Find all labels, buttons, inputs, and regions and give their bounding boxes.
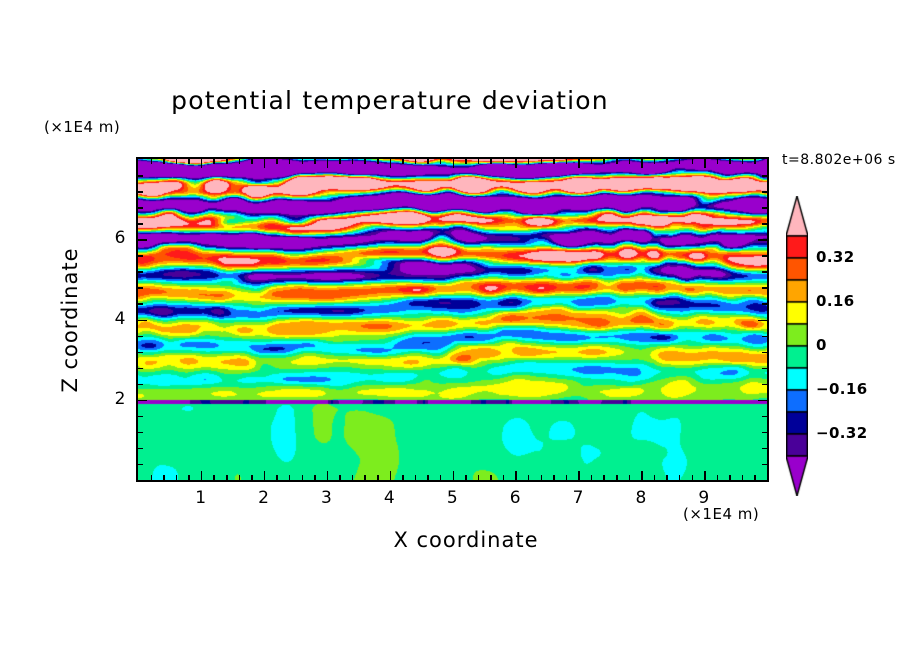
tick-mark (762, 255, 767, 257)
tick-mark (762, 287, 767, 289)
tick-mark (239, 475, 241, 480)
tick-mark (704, 471, 706, 480)
tick-mark (754, 475, 756, 480)
x-tick-label: 4 (375, 488, 405, 508)
tick-mark (138, 191, 143, 193)
tick-mark (276, 159, 278, 164)
tick-mark (616, 159, 618, 164)
tick-mark (754, 159, 756, 164)
colorbar-tick-label: 0 (816, 336, 827, 354)
tick-mark (176, 475, 178, 480)
tick-mark (762, 416, 767, 418)
tick-mark (138, 336, 143, 338)
tick-mark (427, 475, 429, 480)
x-tick-label: 1 (186, 488, 216, 508)
tick-mark (566, 159, 568, 164)
tick-mark (453, 471, 455, 480)
tick-mark (503, 475, 505, 480)
tick-mark (717, 475, 719, 480)
tick-mark (629, 475, 631, 480)
tick-mark (138, 464, 143, 466)
tick-mark (591, 159, 593, 164)
tick-mark (188, 159, 190, 164)
x-tick-label: 3 (312, 488, 342, 508)
tick-mark (138, 352, 143, 354)
tick-mark (402, 159, 404, 164)
tick-mark (440, 159, 442, 164)
tick-mark (553, 159, 555, 164)
tick-mark (528, 159, 530, 164)
colorbar-tick-label: −0.16 (816, 380, 868, 398)
tick-mark (138, 448, 143, 450)
figure-canvas: potential temperature deviation (×1E4 m)… (0, 0, 904, 654)
tick-mark (276, 475, 278, 480)
tick-mark (742, 159, 744, 164)
tick-mark (758, 239, 767, 241)
tick-mark (213, 475, 215, 480)
tick-mark (327, 159, 329, 168)
time-annotation: t=8.802e+06 s (782, 152, 896, 168)
tick-mark (717, 159, 719, 164)
tick-mark (553, 475, 555, 480)
tick-mark (515, 159, 517, 168)
contour-plot-area (136, 157, 769, 482)
tick-mark (603, 159, 605, 164)
tick-mark (264, 159, 266, 168)
tick-mark (352, 159, 354, 164)
x-tick-label: 6 (500, 488, 530, 508)
tick-mark (762, 368, 767, 370)
tick-mark (138, 239, 147, 241)
tick-mark (151, 159, 153, 164)
tick-mark (453, 159, 455, 168)
tick-mark (440, 475, 442, 480)
tick-mark (339, 475, 341, 480)
tick-mark (264, 471, 266, 480)
tick-mark (762, 175, 767, 177)
tick-mark (364, 475, 366, 480)
tick-mark (138, 303, 143, 305)
tick-mark (591, 475, 593, 480)
tick-mark (758, 400, 767, 402)
tick-mark (226, 475, 228, 480)
tick-mark (762, 336, 767, 338)
tick-mark (289, 475, 291, 480)
tick-mark (762, 223, 767, 225)
tick-mark (762, 448, 767, 450)
tick-mark (515, 471, 517, 480)
tick-mark (415, 475, 417, 480)
tick-mark (629, 159, 631, 164)
tick-mark (503, 159, 505, 164)
tick-mark (616, 475, 618, 480)
tick-mark (138, 368, 143, 370)
tick-mark (427, 159, 429, 164)
tick-mark (566, 475, 568, 480)
x-axis-unit-label: (×1E4 m) (683, 505, 759, 523)
tick-mark (729, 475, 731, 480)
tick-mark (364, 159, 366, 164)
tick-mark (213, 159, 215, 164)
tick-mark (402, 475, 404, 480)
tick-mark (679, 159, 681, 164)
tick-mark (478, 159, 480, 164)
tick-mark (578, 471, 580, 480)
tick-mark (138, 175, 143, 177)
tick-mark (138, 432, 143, 434)
tick-mark (666, 475, 668, 480)
tick-mark (704, 159, 706, 168)
x-tick-label: 8 (626, 488, 656, 508)
tick-mark (302, 159, 304, 164)
tick-mark (528, 475, 530, 480)
tick-mark (641, 159, 643, 168)
tick-mark (251, 475, 253, 480)
tick-mark (151, 475, 153, 480)
y-tick-label: 6 (96, 228, 126, 248)
colorbar-tick-label: 0.32 (816, 248, 855, 266)
tick-mark (239, 159, 241, 164)
tick-mark (692, 475, 694, 480)
tick-mark (377, 475, 379, 480)
tick-mark (201, 159, 203, 168)
tick-mark (352, 475, 354, 480)
colorbar-gradient (786, 196, 808, 496)
colorbar (786, 196, 808, 496)
tick-mark (762, 191, 767, 193)
tick-mark (188, 475, 190, 480)
tick-mark (251, 159, 253, 164)
y-tick-label: 4 (96, 309, 126, 329)
tick-mark (138, 384, 143, 386)
tick-mark (762, 271, 767, 273)
tick-mark (415, 159, 417, 164)
tick-mark (138, 400, 147, 402)
tick-mark (138, 287, 143, 289)
tick-mark (289, 159, 291, 164)
tick-mark (762, 464, 767, 466)
page-title: potential temperature deviation (0, 86, 780, 115)
tick-mark (762, 384, 767, 386)
tick-mark (138, 255, 143, 257)
tick-mark (541, 475, 543, 480)
tick-mark (666, 159, 668, 164)
tick-mark (138, 223, 143, 225)
tick-mark (465, 159, 467, 164)
tick-mark (138, 207, 143, 209)
tick-mark (138, 416, 143, 418)
colorbar-tick-label: 0.16 (816, 292, 855, 310)
tick-mark (201, 471, 203, 480)
tick-mark (314, 475, 316, 480)
tick-mark (138, 271, 143, 273)
tick-mark (679, 475, 681, 480)
tick-mark (762, 303, 767, 305)
tick-mark (762, 207, 767, 209)
y-tick-label: 2 (96, 389, 126, 409)
x-tick-label: 5 (438, 488, 468, 508)
tick-mark (654, 475, 656, 480)
tick-mark (390, 159, 392, 168)
tick-mark (762, 352, 767, 354)
tick-mark (478, 475, 480, 480)
tick-mark (641, 471, 643, 480)
tick-mark (762, 432, 767, 434)
tick-mark (465, 475, 467, 480)
tick-mark (603, 475, 605, 480)
tick-mark (654, 159, 656, 164)
colorbar-tick-label: −0.32 (816, 424, 868, 442)
tick-mark (302, 475, 304, 480)
tick-mark (541, 159, 543, 164)
tick-mark (742, 475, 744, 480)
tick-mark (314, 159, 316, 164)
tick-mark (339, 159, 341, 164)
tick-mark (758, 320, 767, 322)
x-axis-title: X coordinate (266, 528, 666, 552)
tick-mark (163, 475, 165, 480)
tick-mark (490, 159, 492, 164)
x-tick-label: 2 (249, 488, 279, 508)
scalar-field-image (138, 159, 767, 480)
y-axis-unit-label: (×1E4 m) (44, 118, 120, 136)
y-axis-title: Z coordinate (58, 220, 82, 420)
tick-mark (490, 475, 492, 480)
tick-mark (729, 159, 731, 164)
tick-mark (692, 159, 694, 164)
tick-mark (390, 471, 392, 480)
tick-mark (226, 159, 228, 164)
tick-mark (767, 471, 769, 480)
tick-mark (163, 159, 165, 164)
tick-mark (578, 159, 580, 168)
x-tick-label: 7 (563, 488, 593, 508)
tick-mark (767, 159, 769, 168)
tick-mark (377, 159, 379, 164)
tick-mark (176, 159, 178, 164)
tick-mark (327, 471, 329, 480)
tick-mark (138, 320, 147, 322)
